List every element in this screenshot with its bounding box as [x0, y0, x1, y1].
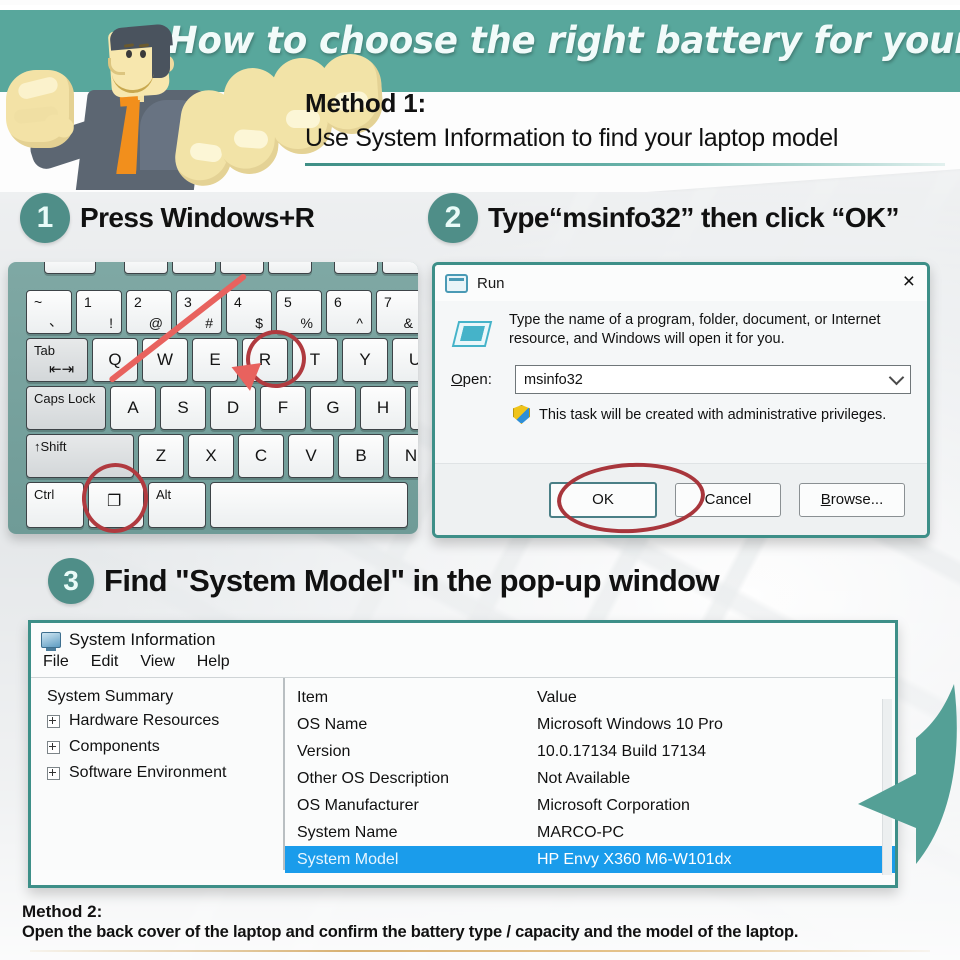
row-value: MARCO-PC	[537, 824, 624, 842]
step-3-label: Find "System Model" in the pop-up window	[104, 563, 719, 599]
step-2-badge: 2	[428, 193, 478, 243]
chevron-down-icon[interactable]	[889, 370, 905, 386]
method-2-title: Method 2:	[22, 902, 952, 922]
tree-item-software-environment[interactable]: Software Environment	[41, 760, 283, 786]
key-1-bottom: !	[109, 315, 113, 331]
key-fn-7[interactable]	[382, 262, 418, 274]
key-tab-label: Tab	[34, 343, 55, 358]
key-z[interactable]: Z	[138, 434, 184, 478]
sysinfo-tree-pane: System Summary Hardware Resources Compon…	[31, 678, 285, 870]
key-w[interactable]: W	[142, 338, 188, 382]
table-row[interactable]: OS Manufacturer Microsoft Corporation	[285, 792, 895, 819]
key-fn-1[interactable]	[44, 262, 96, 274]
row-value: HP Envy X360 M6-W101dx	[537, 851, 731, 869]
key-d[interactable]: D	[210, 386, 256, 430]
tree-item-label: Components	[69, 738, 160, 756]
tree-item-system-summary[interactable]: System Summary	[41, 686, 283, 708]
key-s[interactable]: S	[160, 386, 206, 430]
open-input-value: msinfo32	[524, 372, 583, 388]
key-h[interactable]: H	[360, 386, 406, 430]
step-1-label: Press Windows+R	[80, 202, 314, 234]
table-row[interactable]: Other OS Description Not Available	[285, 765, 895, 792]
run-dialog: Run × Type the name of a program, folder…	[432, 262, 930, 538]
key-fn-3[interactable]	[172, 262, 216, 274]
row-value: 10.0.17134 Build 17134	[537, 743, 706, 761]
key-shift-label: ↑Shift	[34, 439, 67, 454]
row-value: Microsoft Windows 10 Pro	[537, 716, 723, 734]
run-title-bar: Run ×	[435, 265, 927, 301]
column-header-item: Item	[297, 689, 537, 707]
uac-text: This task will be created with administr…	[539, 407, 886, 423]
menu-file[interactable]: File	[43, 653, 69, 671]
key-7[interactable]: 7 &	[376, 290, 418, 334]
tree-item-components[interactable]: Components	[41, 734, 283, 760]
key-2-bottom: @	[149, 315, 163, 331]
key-x[interactable]: X	[188, 434, 234, 478]
tree-item-label: Software Environment	[69, 764, 226, 782]
run-button-row: OK Cancel Browse...	[435, 463, 927, 535]
key-fn-4[interactable]	[220, 262, 264, 274]
expand-plus-icon[interactable]	[47, 767, 60, 780]
method-1-block: Method 1: Use System Information to find…	[305, 88, 945, 154]
run-title-text: Run	[477, 275, 505, 292]
key-fn-5[interactable]	[268, 262, 312, 274]
key-6-bottom: ^	[356, 315, 363, 331]
close-icon[interactable]: ×	[903, 272, 915, 292]
key-4-bottom: $	[255, 315, 263, 331]
key-j-partial[interactable]	[410, 386, 418, 430]
row-item: OS Manufacturer	[297, 797, 537, 815]
menu-help[interactable]: Help	[197, 653, 230, 671]
key-y[interactable]: Y	[342, 338, 388, 382]
keyboard-caps-row: Caps Lock A S D F G H	[26, 386, 418, 430]
key-ctrl[interactable]: Ctrl	[26, 482, 84, 528]
expand-plus-icon[interactable]	[47, 715, 60, 728]
key-2[interactable]: 2 @	[126, 290, 172, 334]
row-item: Other OS Description	[297, 770, 537, 788]
run-description-text: Type the name of a program, folder, docu…	[509, 311, 909, 349]
key-6-top: 6	[334, 294, 342, 310]
open-label: Open:	[451, 371, 503, 388]
key-c[interactable]: C	[238, 434, 284, 478]
menu-view[interactable]: View	[140, 653, 174, 671]
key-1[interactable]: 1 !	[76, 290, 122, 334]
key-g[interactable]: G	[310, 386, 356, 430]
key-u[interactable]: U	[392, 338, 418, 382]
step-1-badge: 1	[20, 193, 70, 243]
run-open-row: Open: msinfo32	[451, 365, 911, 394]
sysinfo-title-text: System Information	[69, 630, 215, 650]
key-1-top: 1	[84, 294, 92, 310]
key-n[interactable]: N	[388, 434, 418, 478]
method-1-divider	[305, 163, 945, 166]
row-value: Microsoft Corporation	[537, 797, 690, 815]
method-1-subtitle: Use System Information to find your lapt…	[305, 122, 945, 154]
teal-curved-arrow	[858, 678, 960, 890]
key-7-bottom: &	[404, 315, 413, 331]
key-5-top: 5	[284, 294, 292, 310]
step-2-header: 2 Type“msinfo32” then click “OK”	[428, 193, 899, 243]
menu-edit[interactable]: Edit	[91, 653, 119, 671]
system-information-window: System Information File Edit View Help S…	[28, 620, 898, 888]
table-header-row: Item Value	[285, 684, 895, 711]
key-a[interactable]: A	[110, 386, 156, 430]
method-2-text: Open the back cover of the laptop and co…	[22, 922, 952, 943]
sysinfo-detail-pane: Item Value OS Name Microsoft Windows 10 …	[285, 678, 895, 870]
keyboard-tab-row: Tab ⇤⇥ Q W E R T Y U	[26, 338, 418, 382]
highlight-circle-ok-button	[555, 459, 706, 537]
key-space[interactable]	[210, 482, 408, 528]
key-alt-label: Alt	[156, 487, 171, 502]
run-window-icon	[445, 274, 468, 293]
key-fn-6[interactable]	[334, 262, 378, 274]
sysinfo-title-bar: System Information	[31, 623, 895, 650]
table-row[interactable]: OS Name Microsoft Windows 10 Pro	[285, 711, 895, 738]
key-3-bottom: #	[205, 315, 213, 331]
key-caps-label: Caps Lock	[34, 391, 95, 406]
step-3-badge: 3	[48, 558, 94, 604]
keyboard-shift-row: ↑Shift Z X C V B N	[26, 434, 418, 478]
key-f[interactable]: F	[260, 386, 306, 430]
key-b[interactable]: B	[338, 434, 384, 478]
keyboard-image: ~ 、 1 ! 2 @ 3 # 4 $	[8, 262, 418, 534]
method-2-divider	[30, 950, 930, 952]
key-tab[interactable]: Tab ⇤⇥	[26, 338, 88, 382]
key-4-top: 4	[234, 294, 242, 310]
key-5[interactable]: 5 %	[276, 290, 322, 334]
step-2-label: Type“msinfo32” then click “OK”	[488, 202, 899, 234]
key-v[interactable]: V	[288, 434, 334, 478]
key-tilde-top: ~	[34, 294, 42, 310]
browse-button[interactable]: Browse...	[799, 483, 905, 517]
run-uac-row: This task will be created with administr…	[513, 405, 911, 424]
table-row[interactable]: Version 10.0.17134 Build 17134	[285, 738, 895, 765]
sysinfo-menubar: File Edit View Help	[31, 650, 895, 677]
tree-item-hardware-resources[interactable]: Hardware Resources	[41, 708, 283, 734]
key-alt[interactable]: Alt	[148, 482, 206, 528]
open-input[interactable]: msinfo32	[515, 365, 911, 394]
method-1-title: Method 1:	[305, 88, 945, 118]
table-row-selected[interactable]: System Model HP Envy X360 M6-W101dx	[285, 846, 895, 873]
key-e[interactable]: E	[192, 338, 238, 382]
run-description-row: Type the name of a program, folder, docu…	[451, 311, 911, 349]
shield-icon	[513, 405, 530, 424]
tree-item-label: Hardware Resources	[69, 712, 219, 730]
key-fn-2[interactable]	[124, 262, 168, 274]
key-3-top: 3	[184, 294, 192, 310]
key-ctrl-label: Ctrl	[34, 487, 54, 502]
monitor-icon	[41, 632, 61, 648]
method-2-block: Method 2: Open the back cover of the lap…	[22, 902, 952, 943]
row-item: OS Name	[297, 716, 537, 734]
run-large-icon	[455, 315, 493, 347]
key-2-top: 2	[134, 294, 142, 310]
key-caps-lock[interactable]: Caps Lock	[26, 386, 106, 430]
table-row[interactable]: System Name MARCO-PC	[285, 819, 895, 846]
keyboard-function-row	[44, 262, 418, 274]
step-1-header: 1 Press Windows+R	[20, 193, 314, 243]
row-item: System Model	[297, 851, 537, 869]
key-tilde-bottom: 、	[49, 311, 63, 331]
column-header-value: Value	[537, 689, 577, 707]
expand-plus-icon[interactable]	[47, 741, 60, 754]
key-7-top: 7	[384, 294, 392, 310]
key-4[interactable]: 4 $	[226, 290, 272, 334]
step-3-header: 3 Find "System Model" in the pop-up wind…	[48, 558, 719, 604]
key-6[interactable]: 6 ^	[326, 290, 372, 334]
infographic-root: How to choose the right battery for your…	[0, 0, 960, 960]
row-item: System Name	[297, 824, 537, 842]
row-item: Version	[297, 743, 537, 761]
row-value: Not Available	[537, 770, 630, 788]
key-5-bottom: %	[301, 315, 313, 331]
tab-arrow-icon: ⇤⇥	[49, 360, 74, 378]
key-tilde[interactable]: ~ 、	[26, 290, 72, 334]
